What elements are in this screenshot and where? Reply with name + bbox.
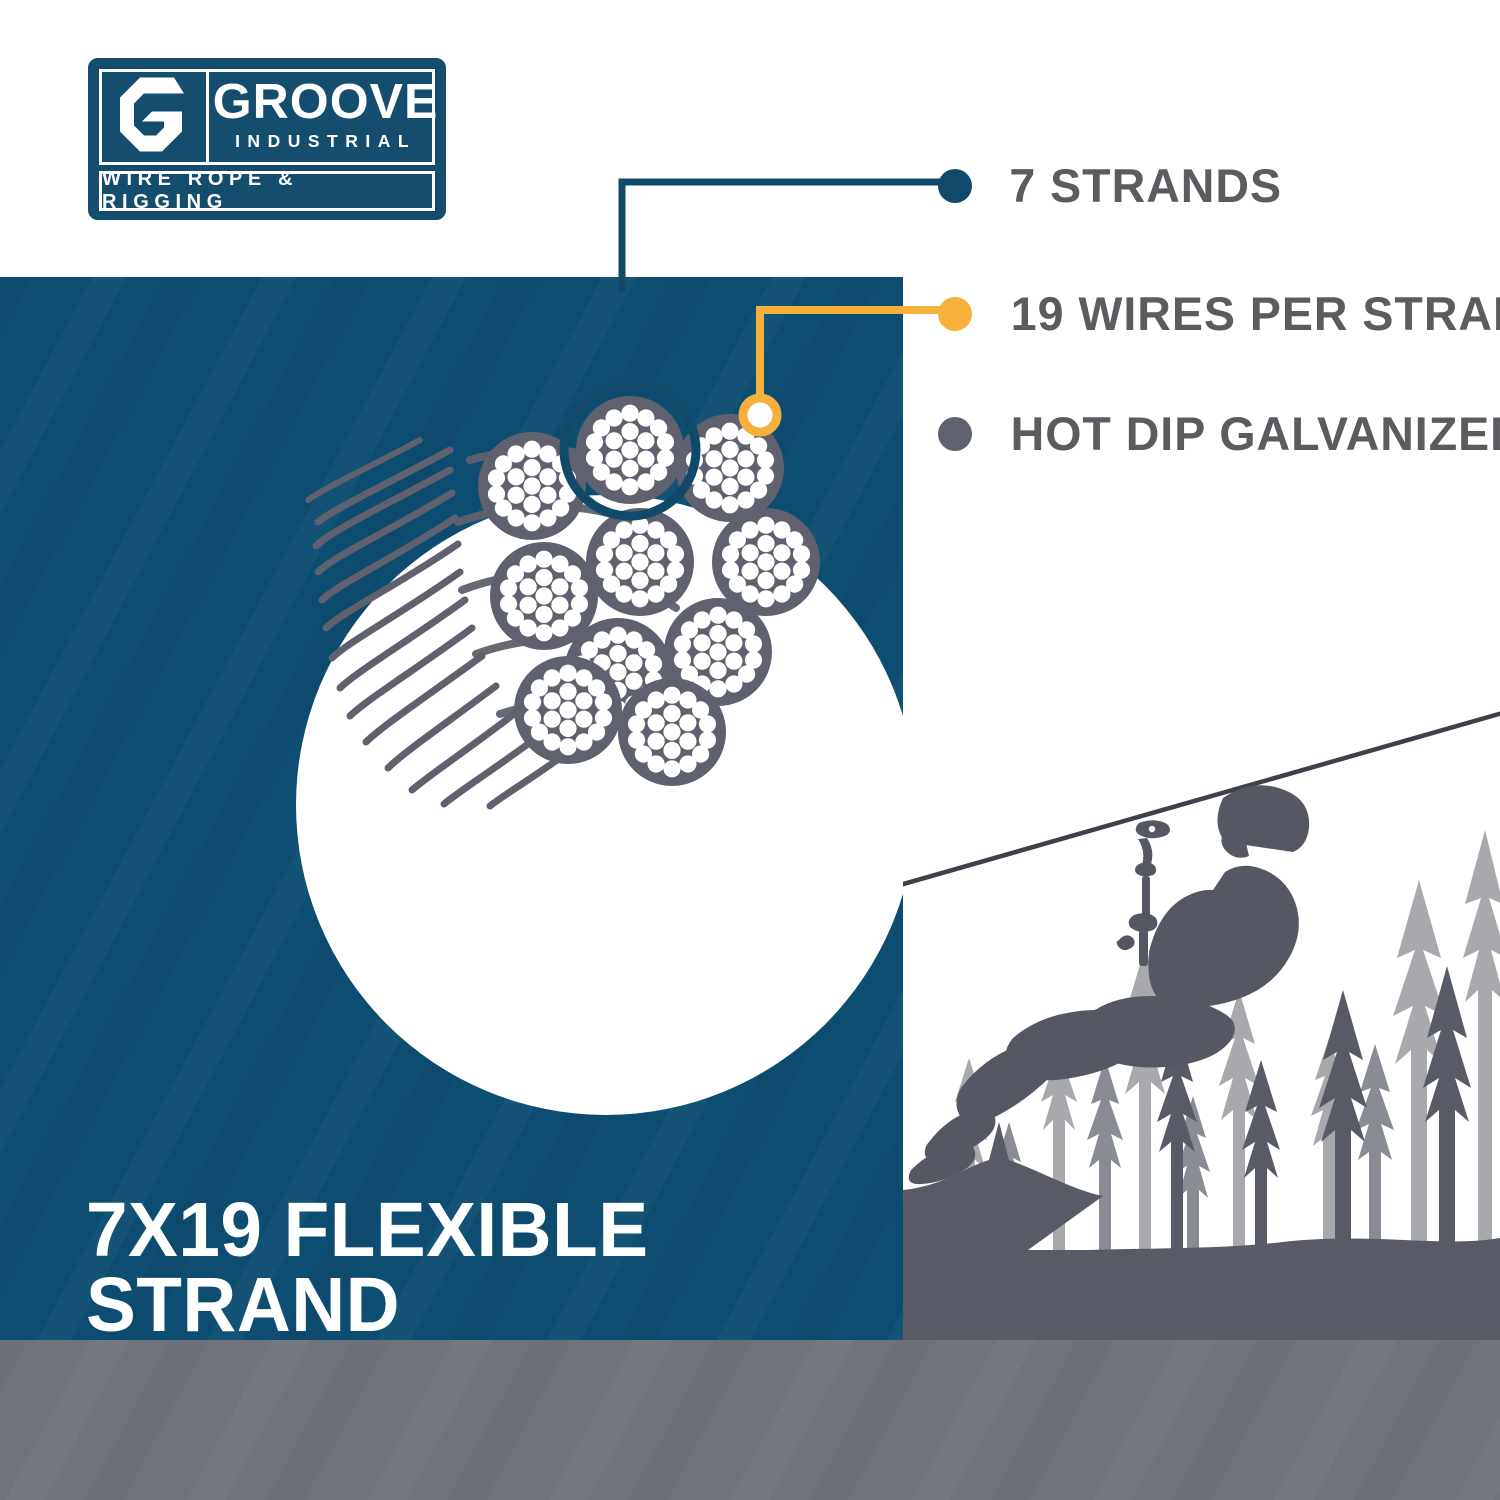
- lead-line-strands: [622, 182, 952, 292]
- wire-rope-cross-section: [300, 290, 870, 810]
- callout-label-strands: 7 STRANDS: [1009, 158, 1282, 213]
- g-monogram-icon: [116, 76, 192, 159]
- zipline-photo: [903, 690, 1500, 1340]
- callout-galvanized[interactable]: HOT DIP GALVANIZED: [938, 406, 1500, 461]
- logo-wordmark-cell: GROOVE INDUSTRIAL: [209, 72, 442, 162]
- logo-top-row: GROOVE INDUSTRIAL: [99, 69, 435, 165]
- logo-tagline-bar: WIRE ROPE & RIGGING: [99, 171, 435, 211]
- band-stripe-texture: [0, 1340, 1500, 1500]
- brand-logo: GROOVE INDUSTRIAL WIRE ROPE & RIGGING: [88, 58, 446, 220]
- logo-subtitle: INDUSTRIAL: [235, 131, 416, 152]
- callout-dot-wires: [938, 297, 972, 331]
- headline-line-1: 7X19 FLEXIBLE: [86, 1187, 649, 1273]
- callout-dot-strands: [938, 169, 972, 203]
- bottom-gray-band: [0, 1340, 1500, 1500]
- logo-tagline: WIRE ROPE & RIGGING: [102, 168, 432, 214]
- callout-dot-galvanized: [938, 417, 972, 451]
- callout-wires[interactable]: 19 WIRES PER STRAND: [938, 286, 1500, 341]
- callout-label-wires: 19 WIRES PER STRAND: [1011, 286, 1500, 341]
- logo-mark-cell: [102, 72, 209, 162]
- strand-bundle: [478, 396, 820, 786]
- page-title: 7X19 FLEXIBLE STRAND CONSTRUCTION: [86, 1193, 852, 1340]
- infographic-root: GROOVE INDUSTRIAL WIRE ROPE & RIGGING 7X…: [0, 0, 1500, 1500]
- callout-strands[interactable]: 7 STRANDS: [938, 158, 1283, 213]
- callout-label-galvanized: HOT DIP GALVANIZED: [1011, 406, 1500, 461]
- headline-line-2: STRAND CONSTRUCTION: [86, 1268, 852, 1340]
- logo-wordmark: GROOVE: [213, 80, 439, 125]
